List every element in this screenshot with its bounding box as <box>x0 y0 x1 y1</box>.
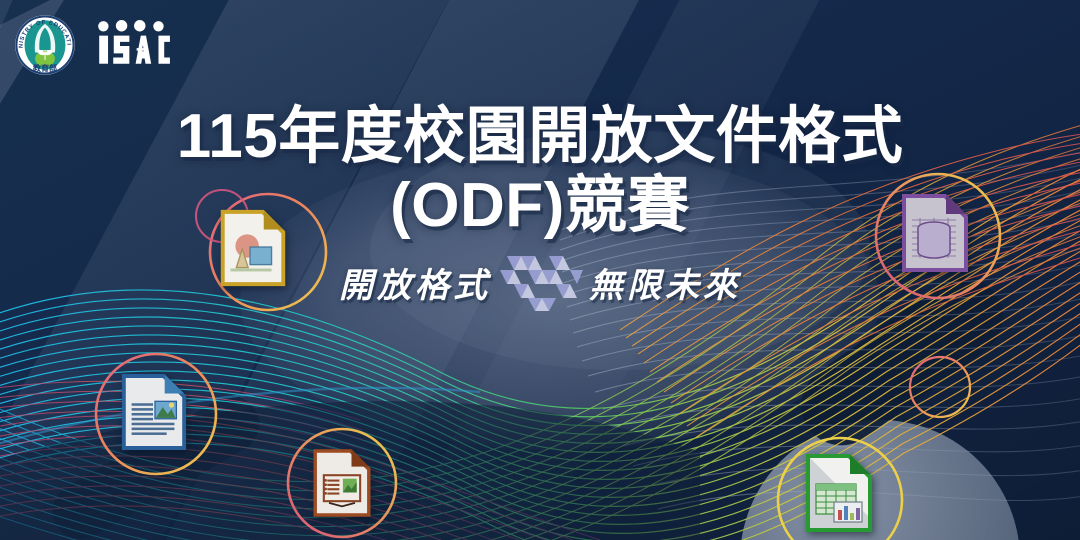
ministry-of-education-logo: 教育部 MINISTRY OF EDUCATION <box>14 14 76 76</box>
odf-impress-icon <box>310 445 374 521</box>
odf-competition-banner: 教育部 MINISTRY OF EDUCATION <box>0 0 1080 540</box>
organizer-logos: 教育部 MINISTRY OF EDUCATION <box>14 14 172 76</box>
isac-logo <box>94 19 172 71</box>
odf-writer-icon <box>118 370 190 454</box>
odf-base-icon <box>898 190 972 276</box>
svg-text:教育部: 教育部 <box>32 63 57 73</box>
odf-calc-icon <box>802 450 876 536</box>
odf-draw-icon <box>216 206 290 290</box>
